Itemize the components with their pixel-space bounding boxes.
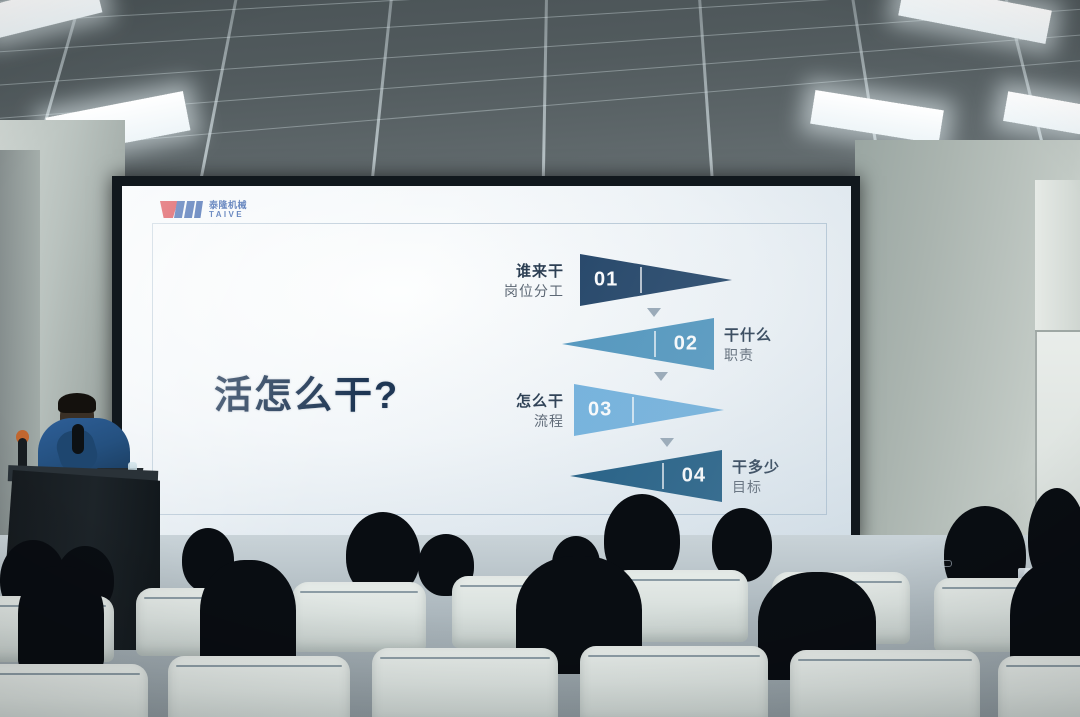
chair (292, 582, 426, 652)
taive-logo-icon (160, 200, 204, 219)
funnel-step-number: 03 (588, 399, 612, 422)
funnel-step-labels: 干什么 职责 (724, 326, 832, 365)
chair (168, 656, 350, 717)
ceiling-light-panel (898, 0, 1052, 44)
funnel-step: 谁来干 岗位分工 01 (452, 254, 832, 312)
funnel-diagram: 谁来干 岗位分工 01 02 (452, 254, 832, 519)
audience-head (18, 566, 104, 670)
chair (0, 664, 148, 717)
funnel-connector-icon (647, 308, 661, 317)
chair (372, 648, 558, 717)
funnel-step-labels: 谁来干 岗位分工 (452, 262, 564, 301)
funnel-step-heading: 干什么 (724, 326, 832, 346)
ceiling-light-panel (1003, 91, 1080, 134)
funnel-step-heading: 怎么干 (458, 392, 564, 412)
funnel-step-labels: 干多少 目标 (732, 458, 832, 497)
ceiling-light-panel (810, 90, 944, 144)
funnel-connector-icon (654, 372, 668, 381)
funnel-step: 怎么干 流程 03 (452, 384, 832, 442)
chair (580, 646, 768, 717)
projected-slide: 泰隆机械 TAIVE 活怎么干? 谁来干 岗位分工 01 (122, 186, 851, 537)
audience-head (200, 560, 296, 670)
funnel-step-subheading: 目标 (732, 478, 832, 497)
funnel-step: 02 干什么 职责 (452, 318, 832, 376)
funnel-step-subheading: 岗位分工 (452, 282, 564, 301)
funnel-step-number: 02 (674, 333, 698, 356)
presentation-room-photo: 泰隆机械 TAIVE 活怎么干? 谁来干 岗位分工 01 (0, 0, 1080, 717)
funnel-step-heading: 谁来干 (452, 262, 564, 282)
funnel-step-number: 01 (594, 269, 618, 292)
funnel-step-labels: 怎么干 流程 (458, 392, 564, 431)
ceiling-light-panel (0, 0, 102, 39)
eyeglasses-icon (940, 560, 952, 567)
chair (790, 650, 980, 717)
funnel-step-heading: 干多少 (732, 458, 832, 478)
funnel-step-subheading: 流程 (458, 412, 564, 431)
presenter-hair (58, 393, 96, 413)
funnel-step-number: 04 (682, 465, 706, 488)
logo-chinese-name: 泰隆机械 (209, 201, 247, 210)
funnel-connector-icon (660, 438, 674, 447)
funnel-step-subheading: 职责 (724, 346, 832, 365)
projection-screen-frame: 泰隆机械 TAIVE 活怎么干? 谁来干 岗位分工 01 (112, 176, 860, 545)
slide-title: 活怎么干? (214, 364, 399, 419)
logo-latin-name: TAIVE (209, 211, 247, 219)
taive-logo: 泰隆机械 TAIVE (160, 200, 247, 219)
microphone-icon (72, 424, 84, 454)
chair (998, 656, 1080, 717)
